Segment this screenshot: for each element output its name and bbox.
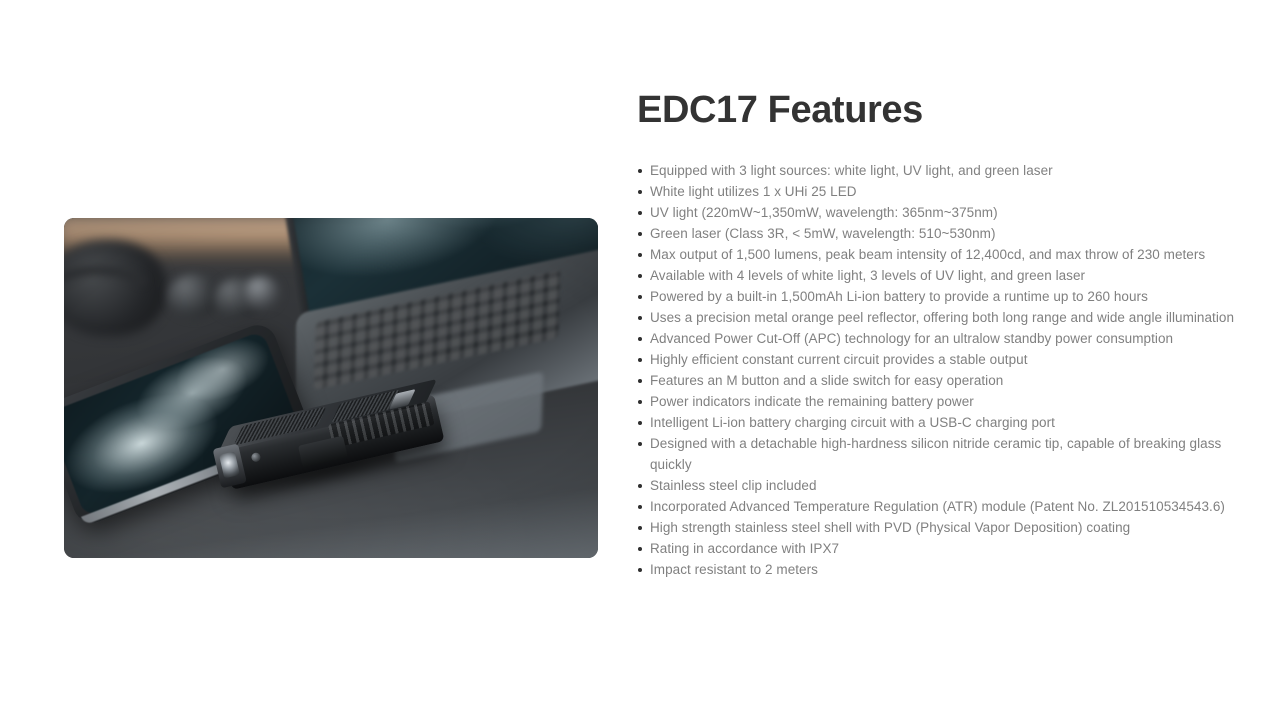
feature-item: Designed with a detachable high-hardness…	[637, 433, 1247, 475]
page-root: EDC17 Features Equipped with 3 light sou…	[0, 0, 1280, 720]
feature-item: Uses a precision metal orange peel refle…	[637, 307, 1247, 328]
page-title: EDC17 Features	[637, 88, 1247, 132]
feature-item: Available with 4 levels of white light, …	[637, 265, 1247, 286]
features-section: EDC17 Features Equipped with 3 light sou…	[637, 88, 1247, 580]
feature-item: Intelligent Li-ion battery charging circ…	[637, 412, 1247, 433]
feature-item: Stainless steel clip included	[637, 475, 1247, 496]
photo-earbud-right	[242, 276, 280, 310]
feature-item: UV light (220mW~1,350mW, wavelength: 365…	[637, 202, 1247, 223]
photo-earbud-left	[168, 274, 220, 318]
feature-item: Equipped with 3 light sources: white lig…	[637, 160, 1247, 181]
feature-item: Rating in accordance with IPX7	[637, 538, 1247, 559]
photo-flashlight-button	[251, 452, 262, 463]
feature-item: Incorporated Advanced Temperature Regula…	[637, 496, 1247, 517]
feature-item: Advanced Power Cut-Off (APC) technology …	[637, 328, 1247, 349]
photo-desk-background	[64, 218, 598, 558]
feature-item: Powered by a built-in 1,500mAh Li-ion ba…	[637, 286, 1247, 307]
feature-item: Max output of 1,500 lumens, peak beam in…	[637, 244, 1247, 265]
photo-flashlight-slide-switch	[298, 436, 348, 468]
feature-item: Green laser (Class 3R, < 5mW, wavelength…	[637, 223, 1247, 244]
product-photo	[64, 218, 598, 558]
feature-item: Features an M button and a slide switch …	[637, 370, 1247, 391]
feature-item: Highly efficient constant current circui…	[637, 349, 1247, 370]
feature-item: Impact resistant to 2 meters	[637, 559, 1247, 580]
feature-list: Equipped with 3 light sources: white lig…	[637, 160, 1247, 580]
feature-item: Power indicators indicate the remaining …	[637, 391, 1247, 412]
feature-item: White light utilizes 1 x UHi 25 LED	[637, 181, 1247, 202]
feature-item: High strength stainless steel shell with…	[637, 517, 1247, 538]
